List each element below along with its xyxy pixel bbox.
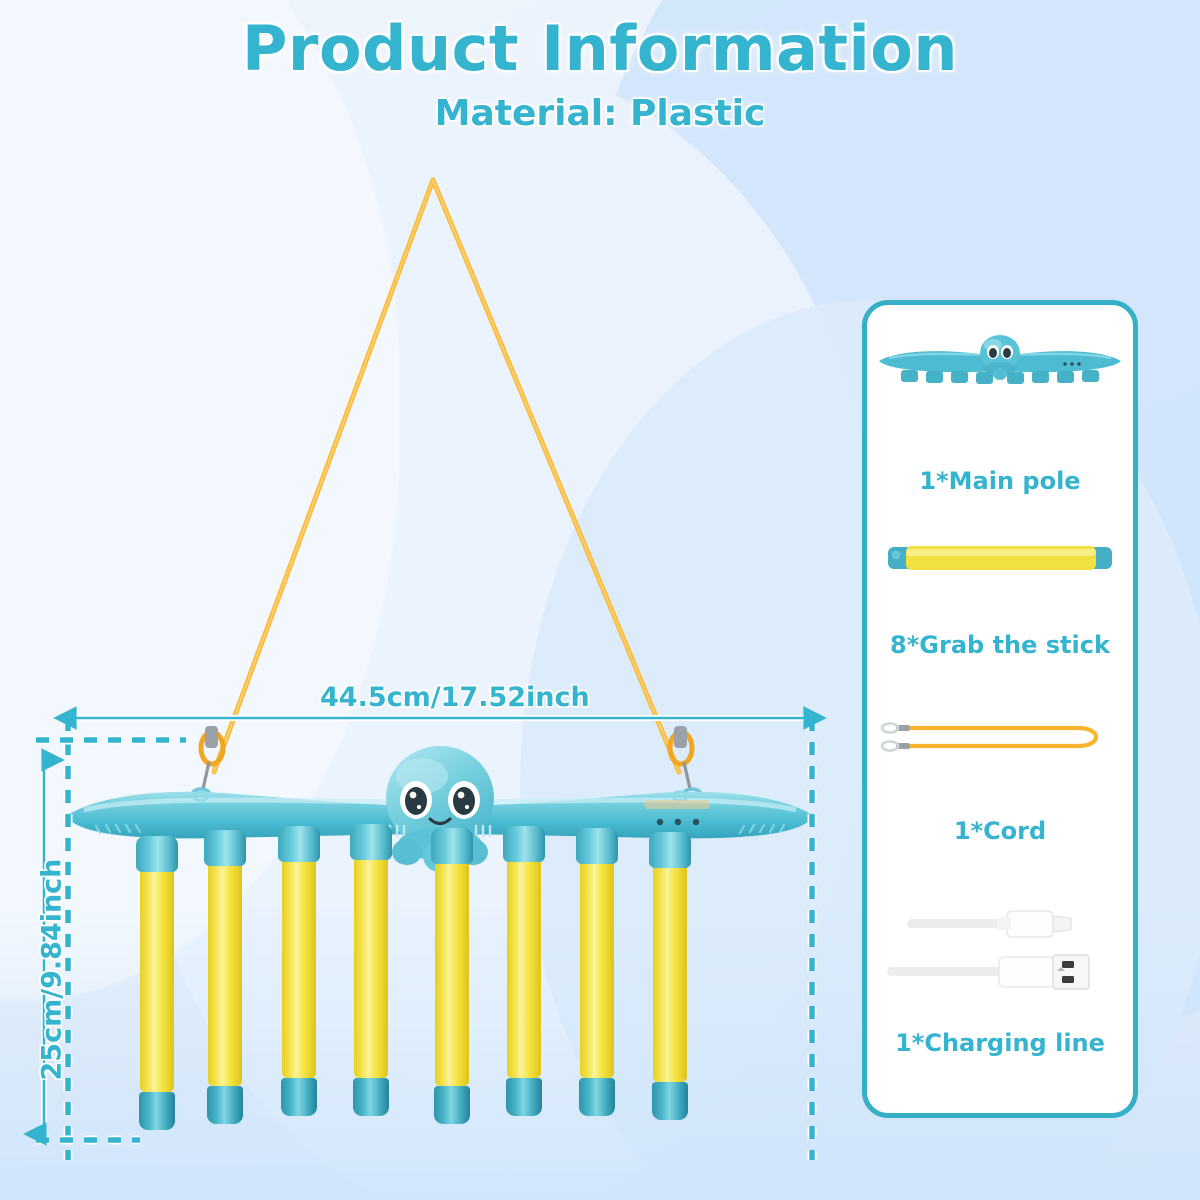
- grab-stick-illustration: [867, 541, 1133, 575]
- stick-body: [354, 850, 388, 1078]
- stick-body: [507, 852, 541, 1078]
- stick-cap: [207, 1086, 243, 1124]
- stick-cap: [506, 1078, 542, 1116]
- parts-item-main-pole: 1*Main pole: [867, 333, 1133, 495]
- parts-caption-cord: 1*Cord: [867, 817, 1133, 845]
- stick-body: [435, 854, 469, 1086]
- page-title: Product Information: [0, 16, 1200, 81]
- parts-caption-grab-stick: 8*Grab the stick: [867, 631, 1133, 659]
- product-illustration: [60, 740, 820, 1160]
- stick-socket: [204, 830, 246, 866]
- height-dimension-label: 25cm/9.84inch: [37, 861, 68, 1081]
- parts-caption-charging-line: 1*Charging line: [867, 1029, 1133, 1057]
- stick-body: [653, 858, 687, 1082]
- parts-item-grab-stick: 8*Grab the stick: [867, 541, 1133, 659]
- stick-cap: [434, 1086, 470, 1124]
- header: Product Information Material: Plastic: [0, 16, 1200, 134]
- product-information-infographic: Product Information Material: Plastic: [0, 0, 1200, 1200]
- stick-cap: [353, 1078, 389, 1116]
- cord-illustration: [867, 715, 1133, 759]
- stick-socket: [649, 832, 691, 868]
- stick-body: [140, 862, 174, 1092]
- stick-socket: [350, 824, 392, 860]
- stick-cap: [579, 1078, 615, 1116]
- stick-body: [208, 856, 242, 1086]
- usb-a-connector-icon: [887, 955, 1089, 989]
- stick-cap: [139, 1092, 175, 1130]
- stick-socket: [278, 826, 320, 862]
- stick-socket: [576, 828, 618, 864]
- parts-list-panel: 1*Main pole 8*Grab the stick: [862, 300, 1138, 1118]
- material-label: Material: Plastic: [0, 93, 1200, 134]
- width-dimension-label: 44.5cm/17.52inch: [320, 682, 590, 713]
- micro-usb-connector-icon: [907, 911, 1071, 937]
- charging-line-illustration: [867, 893, 1133, 1013]
- stick-cap: [652, 1082, 688, 1120]
- main-pole-illustration: [867, 333, 1133, 391]
- parts-item-charging-line: 1*Charging line: [867, 893, 1133, 1057]
- stick-socket: [503, 826, 545, 862]
- stick-socket: [136, 836, 178, 872]
- stick-cap: [281, 1078, 317, 1116]
- stick-socket: [431, 828, 473, 864]
- stick-body: [580, 854, 614, 1078]
- stick-body: [282, 852, 316, 1078]
- parts-caption-main-pole: 1*Main pole: [867, 467, 1133, 495]
- parts-item-cord: 1*Cord: [867, 715, 1133, 845]
